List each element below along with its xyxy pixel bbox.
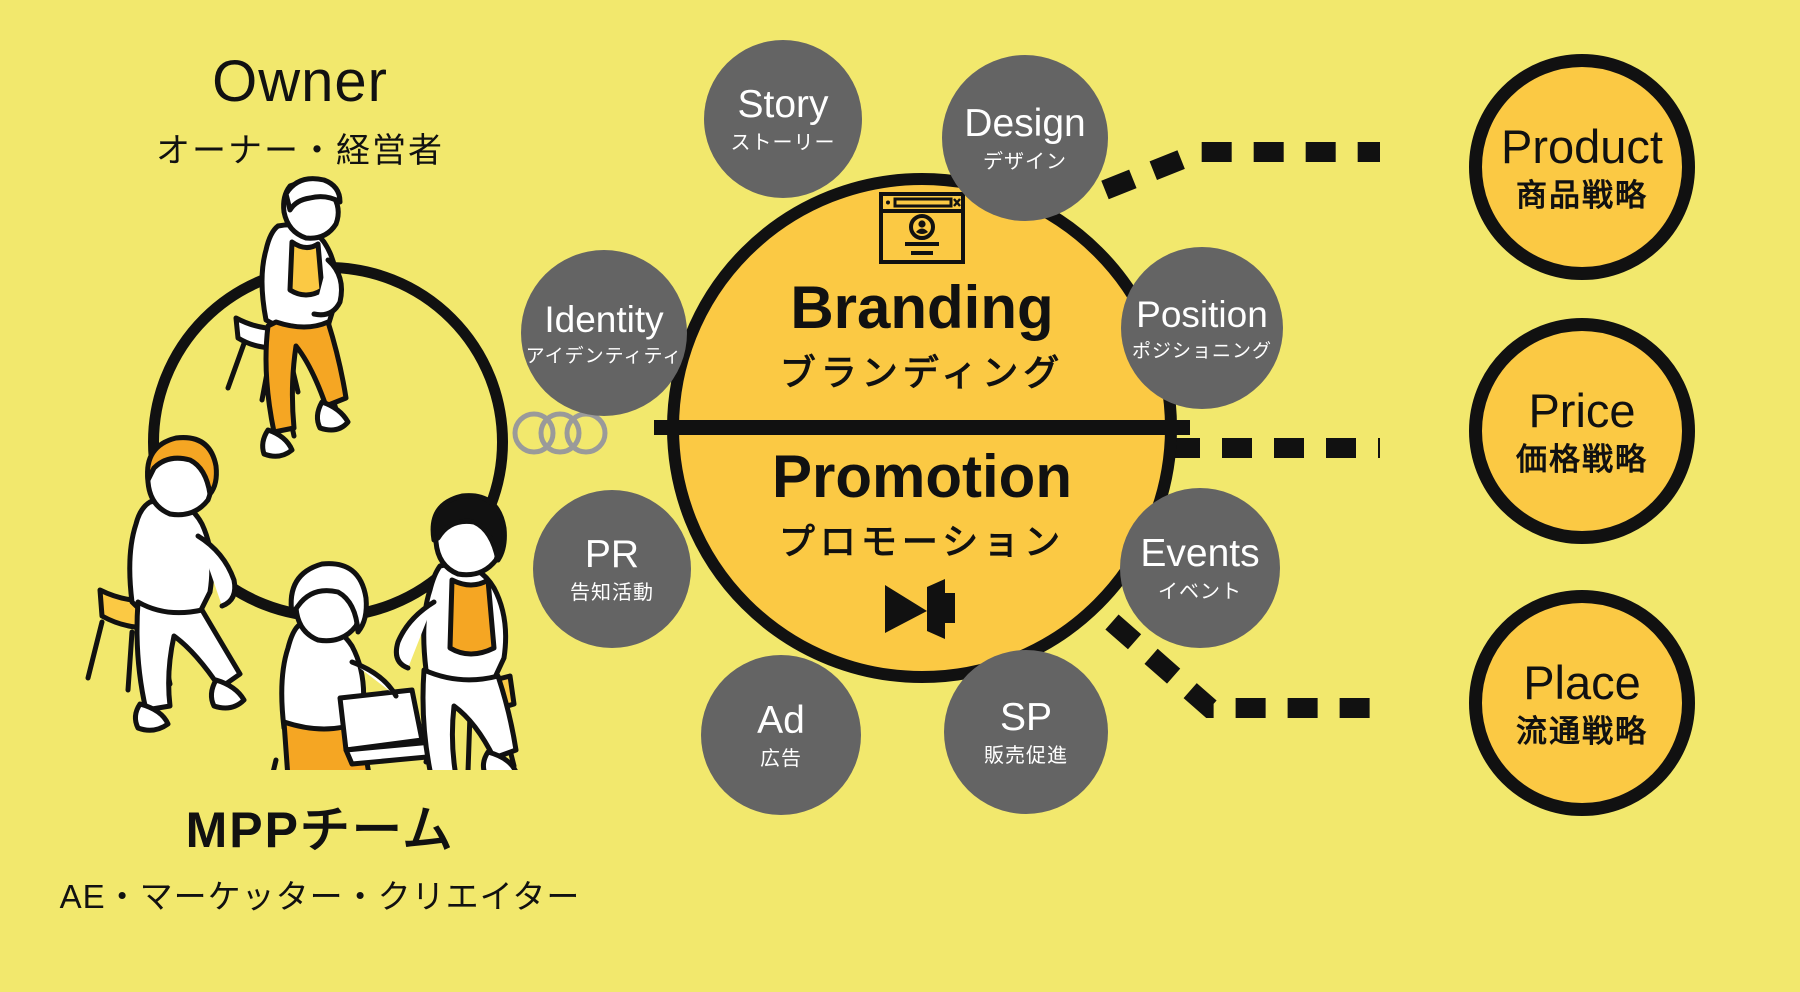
- strategy-label-jp: 商品戦略: [1516, 180, 1648, 211]
- team-title-jp: AE・マーケッター・クリエイター: [0, 870, 640, 918]
- satellite-label-en: SP: [1000, 698, 1052, 737]
- satellite-identity[interactable]: Identity アイデンティティ: [521, 250, 687, 416]
- satellite-label-jp: アイデンティティ: [526, 347, 683, 366]
- core-divider-line: [654, 420, 1190, 435]
- satellite-label-en: Events: [1140, 534, 1259, 573]
- satellite-label-jp: デザイン: [983, 152, 1067, 172]
- megaphone-icon: [867, 571, 977, 643]
- satellite-events[interactable]: Events イベント: [1120, 488, 1280, 648]
- branding-block: Branding ブランディング: [667, 191, 1177, 396]
- promotion-label-jp: プロモーション: [667, 513, 1177, 565]
- strategy-price[interactable]: Price 価格戦略: [1469, 318, 1695, 544]
- satellite-label-jp: イベント: [1158, 582, 1242, 602]
- strategy-label-en: Place: [1523, 659, 1641, 706]
- owner-title-jp: オーナー・経営者: [0, 123, 600, 172]
- strategy-label-en: Product: [1501, 123, 1663, 170]
- satellite-label-en: Ad: [757, 701, 805, 740]
- team-title-en: MPPチーム: [0, 790, 640, 862]
- satellite-story[interactable]: Story ストーリー: [704, 40, 862, 198]
- team-heading: MPPチーム AE・マーケッター・クリエイター: [0, 790, 640, 918]
- browser-profile-icon: [878, 191, 966, 265]
- satellite-label-jp: 広告: [760, 749, 802, 769]
- satellite-design[interactable]: Design デザイン: [942, 55, 1108, 221]
- satellite-label-en: Story: [737, 85, 828, 124]
- promotion-label-en: Promotion: [667, 445, 1177, 509]
- promotion-block: Promotion プロモーション: [667, 445, 1177, 648]
- branding-label-jp: ブランディング: [667, 344, 1177, 396]
- strategy-label-jp: 流通戦略: [1516, 716, 1648, 747]
- satellite-label-jp: 告知活動: [570, 583, 654, 603]
- strategy-label-en: Price: [1528, 387, 1635, 434]
- satellite-label-jp: ストーリー: [731, 133, 836, 153]
- strategy-product[interactable]: Product 商品戦略: [1469, 54, 1695, 280]
- satellite-label-en: PR: [585, 535, 639, 574]
- owner-title-en: Owner: [0, 52, 600, 113]
- branding-label-en: Branding: [667, 276, 1177, 340]
- owner-heading: Owner オーナー・経営者: [0, 52, 600, 172]
- satellite-ad[interactable]: Ad 広告: [701, 655, 861, 815]
- satellite-label-en: Position: [1136, 296, 1268, 333]
- satellite-position[interactable]: Position ポジショニング: [1121, 247, 1283, 409]
- team-circle-ring: [148, 262, 508, 622]
- satellite-label-en: Identity: [544, 301, 663, 338]
- satellite-sp[interactable]: SP 販売促進: [944, 650, 1108, 814]
- satellite-pr[interactable]: PR 告知活動: [533, 490, 691, 648]
- satellite-label-jp: ポジショニング: [1132, 342, 1272, 361]
- satellite-label-jp: 販売促進: [984, 746, 1068, 766]
- strategy-label-jp: 価格戦略: [1516, 444, 1648, 475]
- infographic-canvas: Owner オーナー・経営者: [0, 0, 1800, 992]
- core-group: Branding ブランディング Promotion プロモーション: [667, 173, 1177, 683]
- strategy-place[interactable]: Place 流通戦略: [1469, 590, 1695, 816]
- satellite-label-en: Design: [964, 104, 1085, 143]
